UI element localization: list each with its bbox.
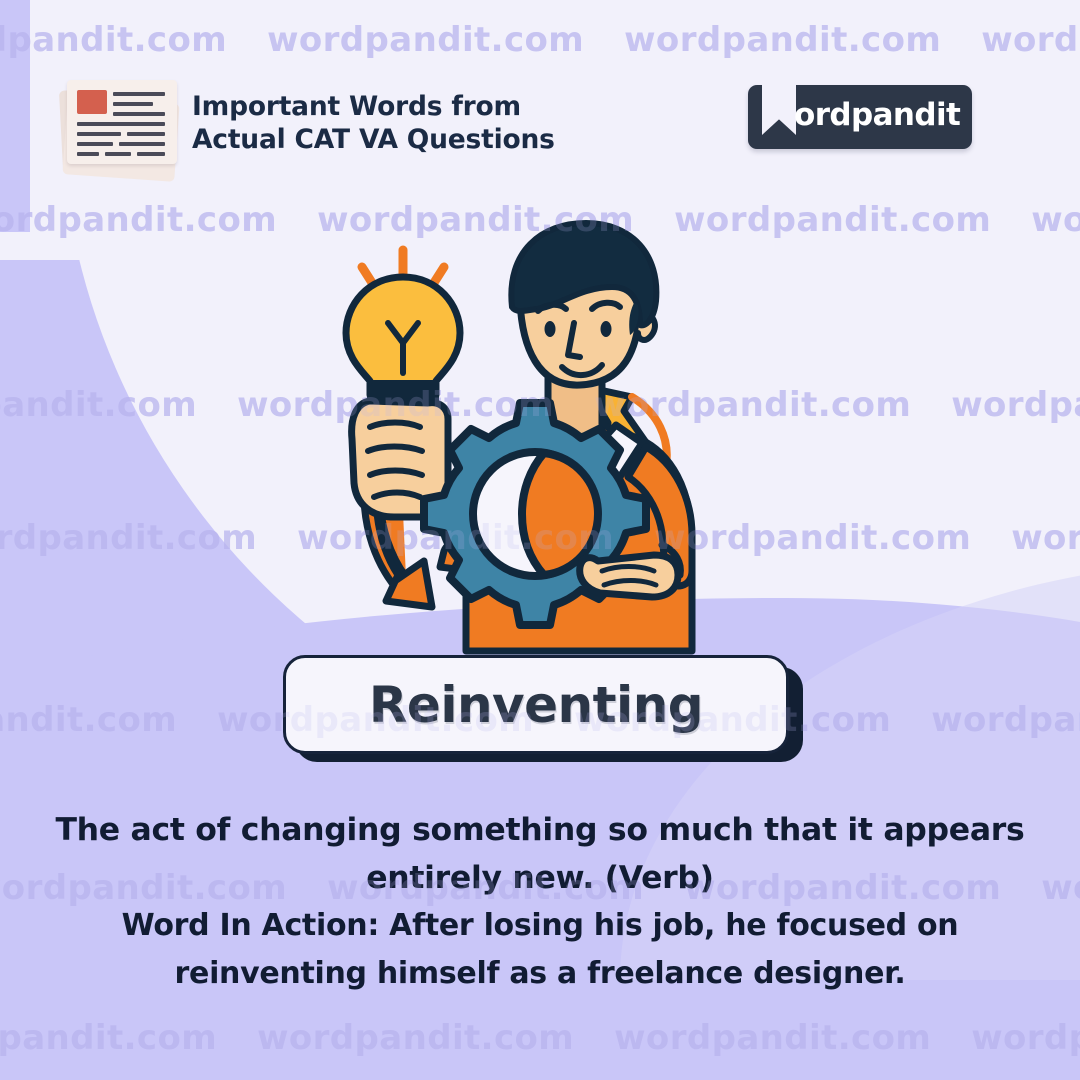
bookmark-w-icon: [762, 79, 796, 135]
poster-canvas: wordpandit.comwordpandit.comwordpandit.c…: [0, 0, 1080, 1080]
usage-block: Word In Action: After losing his job, he…: [60, 902, 1020, 998]
page-title-line1: Important Words from: [192, 90, 555, 123]
definition-line2: entirely new. (Verb): [40, 854, 1040, 902]
page-title-line2: Actual CAT VA Questions: [192, 123, 555, 156]
usage-line1: Word In Action: After losing his job, he…: [60, 902, 1020, 950]
page-title: Important Words from Actual CAT VA Quest…: [192, 90, 555, 156]
man-with-lightbulb-and-gear-illustration: [340, 215, 760, 655]
newspaper-icon: [55, 72, 180, 177]
definition-block: The act of changing something so much th…: [40, 806, 1040, 902]
definition-line1: The act of changing something so much th…: [40, 806, 1040, 854]
usage-line2: reinventing himself as a freelance desig…: [60, 950, 1020, 998]
wordpandit-logo[interactable]: ordpandit: [748, 85, 972, 149]
word-label: Reinventing: [369, 676, 703, 734]
word-card[interactable]: Reinventing: [283, 655, 803, 760]
logo-text: ordpandit: [794, 97, 960, 133]
poster-header: Important Words from Actual CAT VA Quest…: [0, 0, 1080, 190]
newspaper-image-block: [77, 90, 107, 114]
